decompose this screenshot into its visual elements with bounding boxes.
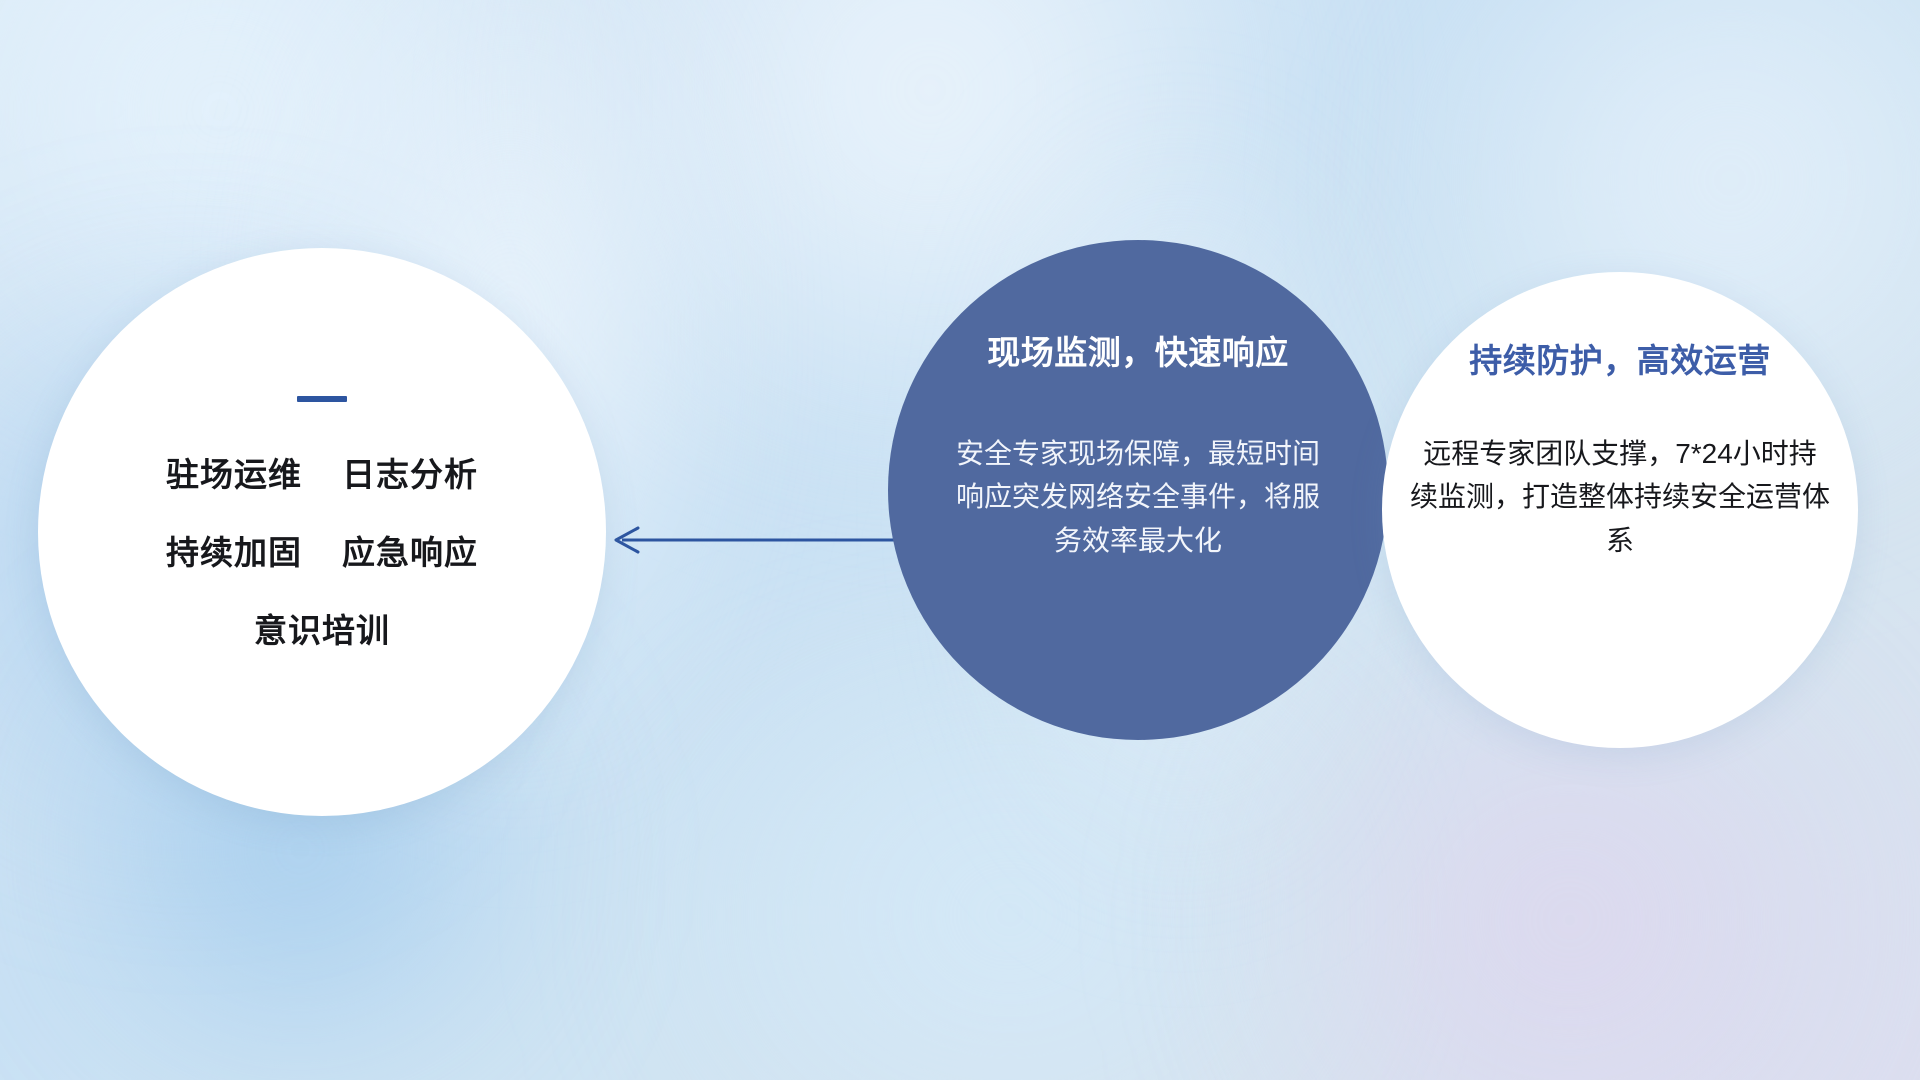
service-capability-circle: 驻场运维 日志分析 持续加固 应急响应 意识培训 bbox=[38, 248, 606, 816]
divider-dash bbox=[297, 396, 347, 402]
continuous-protection-title: 持续防护，高效运营 bbox=[1469, 334, 1771, 382]
capability-row: 驻场运维 日志分析 bbox=[107, 448, 537, 496]
capability-row: 持续加固 应急响应 bbox=[107, 526, 537, 574]
capability-row: 意识培训 bbox=[107, 604, 537, 652]
capability-tag: 意识培训 bbox=[254, 604, 390, 652]
onsite-monitoring-body: 安全专家现场保障，最短时间响应突发网络安全事件，将服务效率最大化 bbox=[943, 432, 1333, 562]
continuous-protection-body: 远程专家团队支撑，7*24小时持续监测，打造整体持续安全运营体系 bbox=[1410, 432, 1830, 562]
capability-tag: 持续加固 bbox=[166, 526, 302, 574]
capability-tag: 驻场运维 bbox=[166, 448, 302, 496]
capability-tag: 日志分析 bbox=[342, 448, 478, 496]
continuous-protection-circle: 持续防护，高效运营 远程专家团队支撑，7*24小时持续监测，打造整体持续安全运营… bbox=[1382, 272, 1858, 748]
capability-tag: 应急响应 bbox=[342, 526, 478, 574]
connector-arrow-left-icon bbox=[600, 520, 900, 560]
capability-list: 驻场运维 日志分析 持续加固 应急响应 意识培训 bbox=[107, 396, 537, 652]
onsite-monitoring-title: 现场监测，快速响应 bbox=[987, 326, 1289, 374]
onsite-monitoring-circle: 现场监测，快速响应 安全专家现场保障，最短时间响应突发网络安全事件，将服务效率最… bbox=[888, 240, 1388, 740]
